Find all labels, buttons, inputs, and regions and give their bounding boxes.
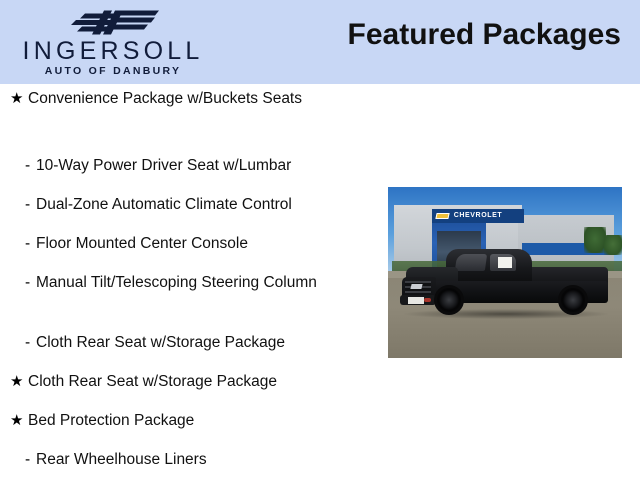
star-bullet-icon: ★ [10, 88, 28, 109]
list-item-label: Manual Tilt/Telescoping Steering Column [36, 272, 317, 293]
window-sticker [498, 257, 512, 268]
list-item: ★Bed Protection Package [0, 410, 194, 431]
list-item: -10-Way Power Driver Seat w/Lumbar [0, 155, 291, 176]
truck-front-window [455, 254, 487, 271]
list-item: -Rear Wheelhouse Liners [0, 449, 207, 470]
dealer-logo: INGERSOLL AUTO OF DANBURY [8, 2, 218, 82]
star-bullet-icon: ★ [10, 371, 28, 392]
chevrolet-bowtie-icon [435, 213, 449, 219]
dash-bullet-icon: - [25, 233, 36, 254]
list-item-label: 10-Way Power Driver Seat w/Lumbar [36, 155, 291, 176]
list-item-label: Cloth Rear Seat w/Storage Package [36, 332, 285, 353]
dash-bullet-icon: - [25, 194, 36, 215]
tow-hook [424, 298, 431, 302]
dash-bullet-icon: - [25, 272, 36, 293]
list-item: -Dual-Zone Automatic Climate Control [0, 194, 292, 215]
star-bullet-icon: ★ [10, 410, 28, 431]
truck-rear-wheel [558, 285, 588, 315]
list-item-label: Rear Wheelhouse Liners [36, 449, 207, 470]
list-item: -Cloth Rear Seat w/Storage Package [0, 332, 285, 353]
ingersoll-wing-monogram-icon [56, 4, 166, 40]
header-band: INGERSOLL AUTO OF DANBURY Featured Packa… [0, 0, 640, 84]
truck-silhouette [400, 241, 612, 329]
page-title: Featured Packages [348, 18, 621, 52]
brand-tagline: AUTO OF DANBURY [10, 65, 216, 77]
list-item-label: Cloth Rear Seat w/Storage Package [28, 371, 277, 392]
chevrolet-bowtie-icon [410, 284, 422, 289]
list-item: -Manual Tilt/Telescoping Steering Column [0, 272, 317, 293]
list-item: -Floor Mounted Center Console [0, 233, 248, 254]
vehicle-photo: CHEVROLET [388, 187, 622, 358]
list-item-label: Convenience Package w/Buckets Seats [28, 88, 302, 109]
license-plate [408, 297, 424, 304]
dash-bullet-icon: - [25, 449, 36, 470]
truck-front-wheel [434, 285, 464, 315]
dash-bullet-icon: - [25, 155, 36, 176]
dash-bullet-icon: - [25, 332, 36, 353]
list-item-label: Floor Mounted Center Console [36, 233, 248, 254]
list-item: ★Convenience Package w/Buckets Seats [0, 88, 302, 109]
list-item-label: Bed Protection Package [28, 410, 194, 431]
list-item: ★Cloth Rear Seat w/Storage Package [0, 371, 277, 392]
brand-name: INGERSOLL [10, 38, 216, 65]
list-item-label: Dual-Zone Automatic Climate Control [36, 194, 292, 215]
